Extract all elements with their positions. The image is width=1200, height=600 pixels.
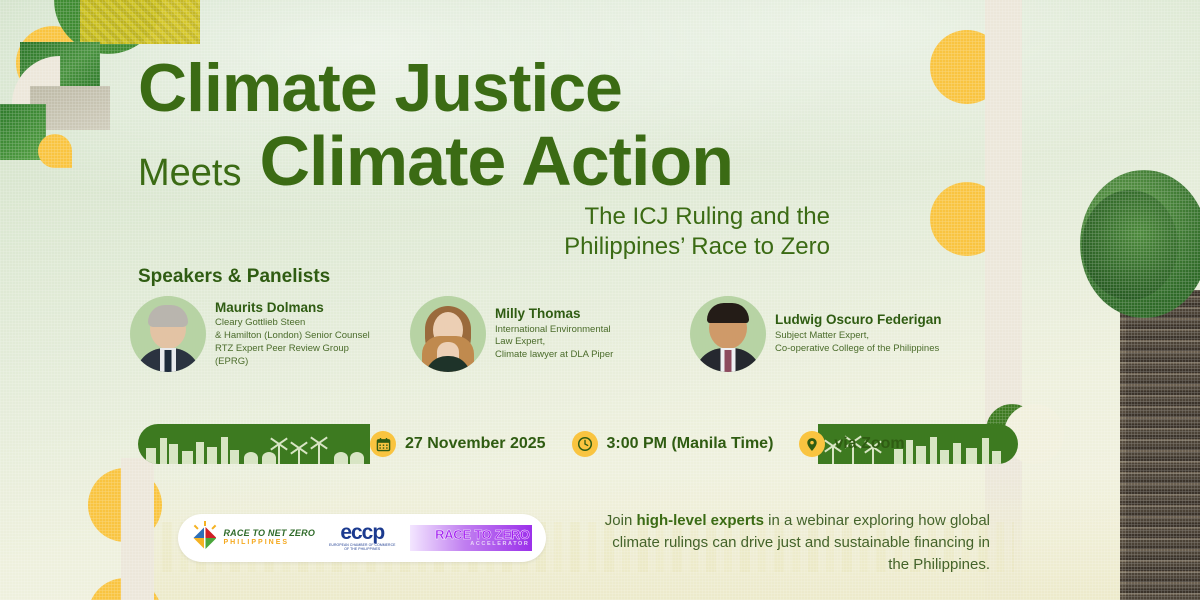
yellow-quarter-circle (38, 134, 72, 168)
ludwig-oscuro-federigan-photo (690, 296, 766, 372)
skyline-band-left (138, 424, 370, 464)
webinar-poster: Climate Justice Meets Climate Action The… (0, 0, 1200, 600)
headline-line-2: Climate Action (259, 126, 732, 196)
event-details-band: 27 November 2025 3:00 PM (Manila Time) v… (138, 424, 1018, 464)
eccp-logo: eccp EUROPEAN CHAMBER OF COMMERCE OF THE… (329, 524, 395, 551)
rtnz-title: RACE TO NET ZERO (223, 529, 315, 539)
speaker-name: Milly Thomas (495, 306, 613, 322)
speaker-card: Milly Thomas International Environmental… (410, 296, 680, 372)
money-tree-illustration (1070, 170, 1200, 600)
eccp-wordmark: eccp (329, 524, 395, 543)
description-text: Join high-level experts in a webinar exp… (590, 510, 990, 575)
speaker-role: Subject Matter Expert, Co-operative Coll… (775, 330, 942, 356)
pinwheel-sun-icon (192, 525, 218, 551)
subtitle-line-2: Philippines’ Race to Zero (380, 232, 830, 262)
subtitle-block: The ICJ Ruling and the Philippines’ Race… (380, 202, 830, 262)
speaker-card: Ludwig Oscuro Federigan Subject Matter E… (690, 296, 960, 372)
headline-block: Climate Justice Meets Climate Action (138, 54, 838, 196)
subtitle-line-1: The ICJ Ruling and the (380, 202, 830, 232)
race-to-zero-accelerator-logo: RACE TO ZERO ACCELERATOR (410, 525, 532, 551)
blurb-bold: high-level experts (636, 512, 764, 529)
rtnz-subtitle: PHILIPPINES (223, 539, 315, 547)
speaker-card: Maurits Dolmans Cleary Gottlieb Steen & … (130, 296, 400, 372)
eccp-subtitle: EUROPEAN CHAMBER OF COMMERCE OF THE PHIL… (329, 543, 395, 551)
speakers-heading: Speakers & Panelists (138, 266, 330, 288)
clock-icon (572, 431, 598, 457)
speaker-name: Ludwig Oscuro Federigan (775, 312, 942, 328)
race-to-net-zero-logo: RACE TO NET ZERO PHILIPPINES (192, 525, 315, 551)
speaker-role: International Environmental Law Expert, … (495, 324, 613, 362)
partner-logo-bar: RACE TO NET ZERO PHILIPPINES eccp EUROPE… (178, 514, 546, 562)
event-time: 3:00 PM (Manila Time) (607, 435, 774, 453)
location-pin-icon (799, 431, 825, 457)
event-details-list: 27 November 2025 3:00 PM (Manila Time) v… (370, 424, 905, 464)
duotone-photo-yellow (80, 0, 200, 44)
speaker-role: Cleary Gottlieb Steen & Hamilton (London… (215, 317, 370, 368)
event-platform: via Zoom (834, 435, 904, 453)
speakers-list: Maurits Dolmans Cleary Gottlieb Steen & … (130, 296, 960, 372)
rtz-subtitle: ACCELERATOR (435, 541, 529, 548)
milly-thomas-photo (410, 296, 486, 372)
rtz-title: RACE TO ZERO (435, 528, 529, 541)
cream-vertical-stripe-left (121, 458, 154, 600)
blurb-before: Join (605, 512, 637, 529)
headline-meets: Meets (138, 152, 241, 195)
maurits-dolmans-photo (130, 296, 206, 372)
headline-line-1: Climate Justice (138, 54, 838, 122)
event-date: 27 November 2025 (405, 435, 546, 453)
tree-canopy-highlight (1082, 190, 1178, 300)
speaker-name: Maurits Dolmans (215, 300, 370, 316)
calendar-icon (370, 431, 396, 457)
coin-stack-trunk (1126, 290, 1200, 600)
